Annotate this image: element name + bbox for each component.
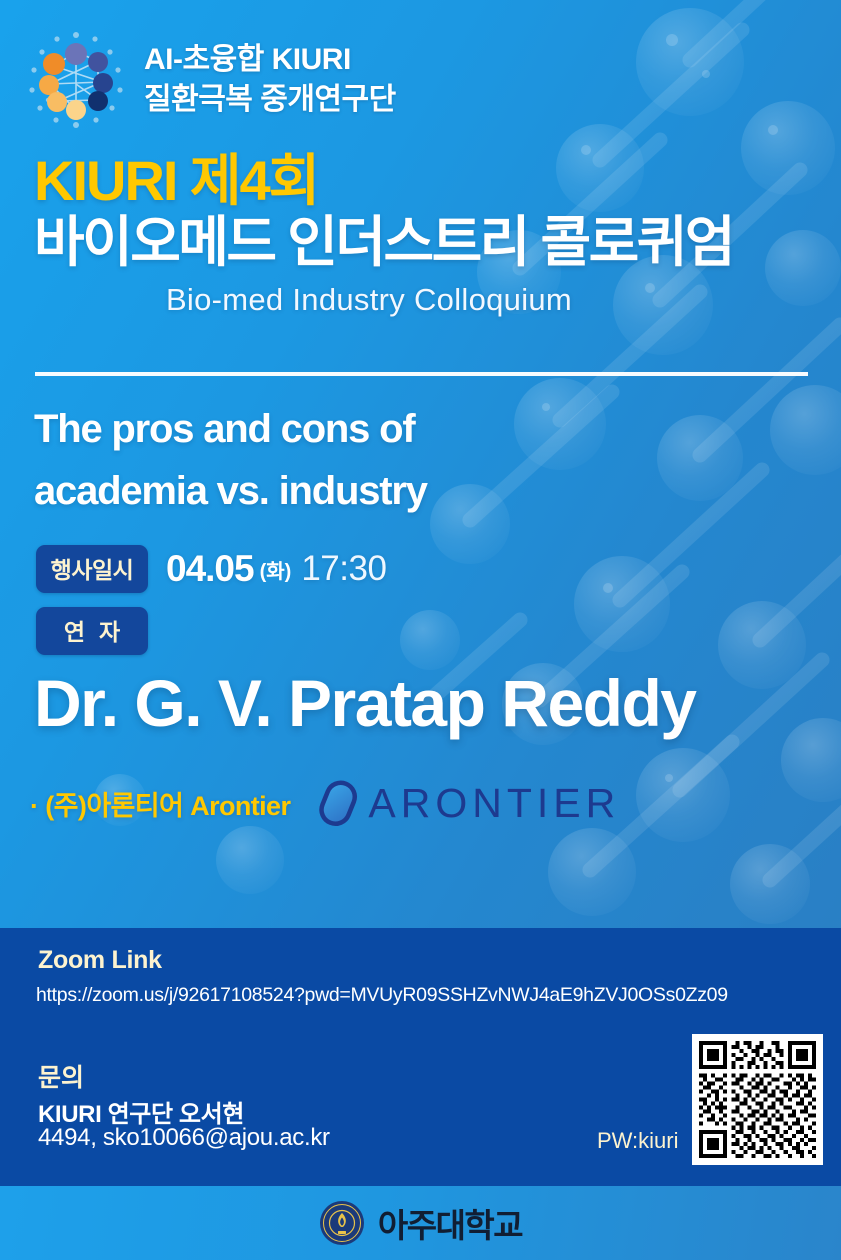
title-block: KIURI 제4회 바이오메드 인더스트리 콜로퀴엄 Bio-med Indus… [34, 152, 814, 318]
arontier-capsule-icon [316, 778, 364, 828]
qr-code-icon [699, 1041, 816, 1158]
qr-code[interactable] [692, 1034, 823, 1165]
arontier-wordmark: ARONTIER [368, 783, 620, 824]
event-title-korean: 바이오메드 인더스트리 콜로퀴엄 [34, 212, 814, 274]
speaker-row: 연자 [36, 611, 386, 651]
organization-name: AI-초융합 KIURI 질환극복 중개연구단 [144, 40, 396, 119]
event-date: 04.05 [166, 548, 254, 590]
speaker-affiliation: · (주)아론티어 Arontier [30, 784, 290, 823]
talk-title-line-2: academia vs. industry [34, 460, 654, 522]
contact-detail: 4494, sko10066@ajou.ac.kr [38, 1124, 330, 1152]
event-number-title: KIURI 제4회 [34, 152, 814, 210]
contact-label: 문의 [38, 1058, 84, 1094]
org-line-1: AI-초융합 KIURI [144, 40, 396, 80]
org-line-2: 질환극복 중개연구단 [144, 80, 396, 120]
divider [35, 372, 808, 376]
university-name: 아주대학교 [378, 1199, 522, 1247]
zoom-link-label: Zoom Link [38, 946, 162, 975]
zoom-password: PW:kiuri [597, 1128, 679, 1154]
kiuri-network-logo-icon [24, 28, 128, 132]
speaker-badge: 연자 [36, 607, 148, 655]
event-info: 행사일시 04.05 (화) 17:30 연자 [36, 549, 386, 651]
date-badge: 행사일시 [36, 545, 148, 593]
talk-title-line-1: The pros and cons of [34, 398, 654, 460]
affiliation-row: · (주)아론티어 Arontier ARONTIER [30, 778, 620, 828]
event-time: 17:30 [301, 549, 386, 589]
poster-root: AI-초융합 KIURI 질환극복 중개연구단 KIURI 제4회 바이오메드 … [0, 0, 841, 1260]
header: AI-초융합 KIURI 질환극복 중개연구단 [24, 28, 396, 132]
university-footer: 아주대학교 [0, 1186, 841, 1260]
event-weekday: (화) [260, 555, 292, 584]
talk-title: The pros and cons of academia vs. indust… [34, 398, 654, 522]
ajou-university-seal-icon [319, 1200, 365, 1246]
speaker-name: Dr. G. V. Pratap Reddy [34, 665, 695, 741]
arontier-logo: ARONTIER [316, 778, 620, 828]
event-title-english: Bio-med Industry Colloquium [34, 282, 814, 318]
zoom-link-url[interactable]: https://zoom.us/j/92617108524?pwd=MVUyR0… [36, 984, 728, 1007]
date-row: 행사일시 04.05 (화) 17:30 [36, 549, 386, 589]
